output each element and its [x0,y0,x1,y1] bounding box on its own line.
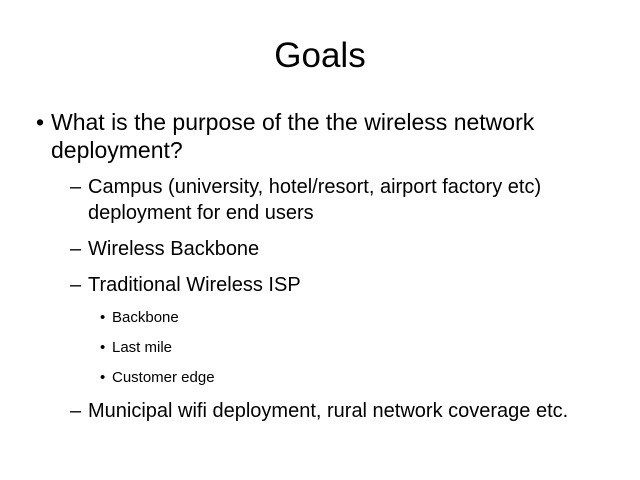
bullet-item-label: Municipal wifi deployment, rural network… [88,398,613,424]
bullet-item-level3: • Customer edge [30,367,615,388]
bullet-dash-icon: – [30,174,88,200]
bullet-item-level2: – Campus (university, hotel/resort, airp… [30,174,615,226]
bullet-item-label: Traditional Wireless ISP [88,272,613,298]
bullet-item-label: Customer edge [112,367,615,388]
bullet-dot-icon: • [30,367,112,388]
bullet-item-level3: • Last mile [30,337,615,358]
slide-body: • What is the purpose of the the wireles… [30,108,615,424]
bullet-item-level2: – Municipal wifi deployment, rural netwo… [30,398,615,424]
bullet-item-label: What is the purpose of the the wireless … [51,108,603,164]
page-title: Goals [0,36,640,76]
bullet-item-label: Backbone [112,307,615,328]
slide: Goals • What is the purpose of the the w… [0,0,640,480]
bullet-item-label: Wireless Backbone [88,236,613,262]
bullet-dash-icon: – [30,398,88,424]
sub-bullet-group: • Backbone • Last mile • Customer edge [30,307,615,388]
bullet-item-label: Campus (university, hotel/resort, airpor… [88,174,613,226]
bullet-item-level1: • What is the purpose of the the wireles… [30,108,615,164]
bullet-item-level3: • Backbone [30,307,615,328]
bullet-dash-icon: – [30,236,88,262]
bullet-item-label: Last mile [112,337,615,358]
bullet-dot-icon: • [30,108,51,136]
bullet-dot-icon: • [30,307,112,328]
bullet-item-level2: – Wireless Backbone [30,236,615,262]
bullet-dash-icon: – [30,272,88,298]
bullet-dot-icon: • [30,337,112,358]
bullet-item-level2: – Traditional Wireless ISP [30,272,615,298]
